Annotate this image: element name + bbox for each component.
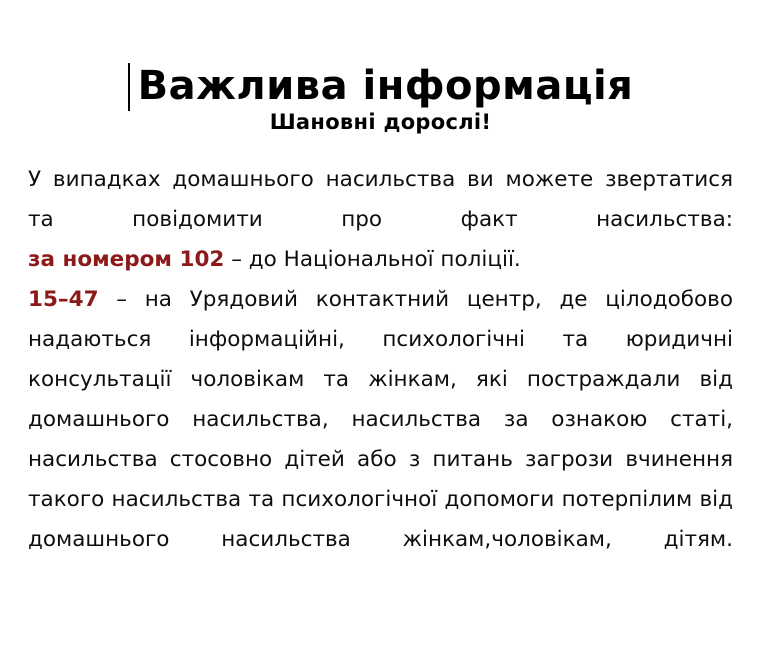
police-number-highlight: за номером 102 bbox=[28, 247, 224, 272]
paragraph-intro-text: У випадках домашнього насильства ви може… bbox=[28, 167, 733, 232]
hotline-number-highlight: 15–47 bbox=[28, 287, 99, 312]
paragraph-hotline: 15–47 – на Урядовий контактний центр, де… bbox=[28, 280, 733, 560]
page-title-text: Важлива інформація bbox=[138, 63, 634, 109]
page-subtitle: Шановні дорослі! bbox=[28, 110, 733, 134]
police-number-rest: – до Національної поліції. bbox=[224, 247, 520, 272]
text-cursor-caret bbox=[128, 63, 130, 111]
paragraph-police: за номером 102 – до Національної поліції… bbox=[28, 240, 733, 280]
title-row: Важлива інформація bbox=[28, 34, 733, 90]
document-page: Важлива інформація Шановні дорослі! У ви… bbox=[0, 34, 761, 647]
document-body: У випадках домашнього насильства ви може… bbox=[28, 160, 733, 560]
paragraph-intro: У випадках домашнього насильства ви може… bbox=[28, 160, 733, 240]
page-title: Важлива інформація bbox=[128, 61, 634, 111]
hotline-text: – на Урядовий контактний центр, де цілод… bbox=[28, 287, 733, 552]
